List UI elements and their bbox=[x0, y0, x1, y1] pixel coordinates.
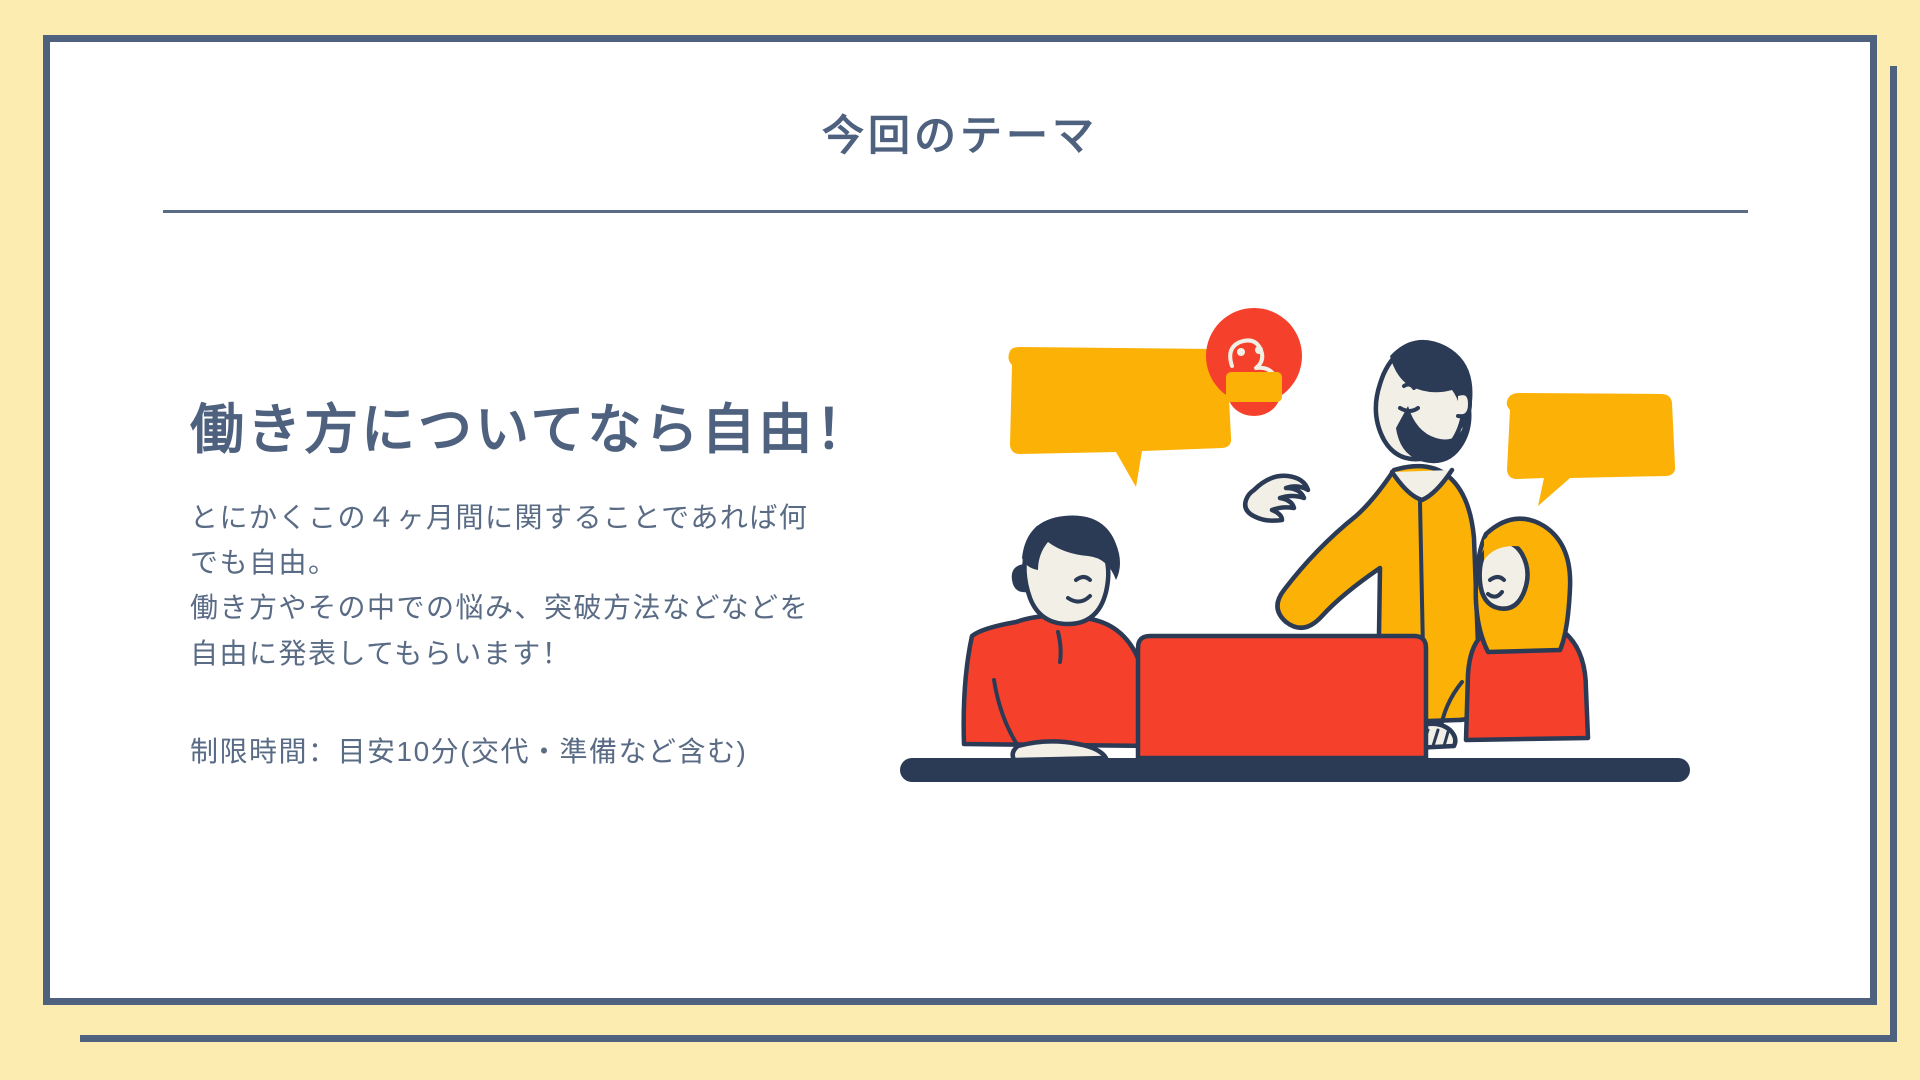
title-divider bbox=[163, 210, 1748, 213]
slide-frame: 今回のテーマ 働き方についてなら自由！ とにかくこの４ヶ月間に関することであれば… bbox=[43, 35, 1877, 1005]
page-title: 今回のテーマ bbox=[822, 102, 1098, 163]
description-line: 自由に発表してもらいます！ bbox=[190, 631, 890, 676]
speech-bubble-left bbox=[1008, 347, 1231, 487]
slide-header: 今回のテーマ bbox=[50, 42, 1870, 222]
gesturing-hand bbox=[1245, 476, 1308, 521]
desk bbox=[900, 758, 1690, 782]
main-heading: 働き方についてなら自由！ bbox=[190, 397, 890, 465]
team-discussion-illustration bbox=[900, 302, 1700, 822]
frame-shadow-line-bottom bbox=[80, 1035, 1897, 1042]
slide-body: 働き方についてなら自由！ とにかくこの４ヶ月間に関することであれば何 でも自由。… bbox=[50, 232, 1870, 1002]
description-line: 働き方やその中での悩み、突破方法などなどを bbox=[190, 585, 890, 630]
description-line: とにかくこの４ヶ月間に関することであれば何 bbox=[190, 495, 890, 540]
description-line: でも自由。 bbox=[190, 540, 890, 585]
frame-shadow-line-right bbox=[1890, 66, 1897, 1042]
seated-person-left bbox=[964, 516, 1151, 760]
description-block: とにかくこの４ヶ月間に関することであれば何 でも自由。 働き方やその中での悩み、… bbox=[190, 495, 890, 676]
text-column: 働き方についてなら自由！ とにかくこの４ヶ月間に関することであれば何 でも自由。… bbox=[50, 232, 890, 770]
speech-bubble-right bbox=[1507, 393, 1675, 506]
illustration-column bbox=[890, 232, 1870, 1002]
time-limit-note: 制限時間：目安10分(交代・準備など含む) bbox=[190, 730, 890, 770]
laptop bbox=[1138, 636, 1426, 758]
